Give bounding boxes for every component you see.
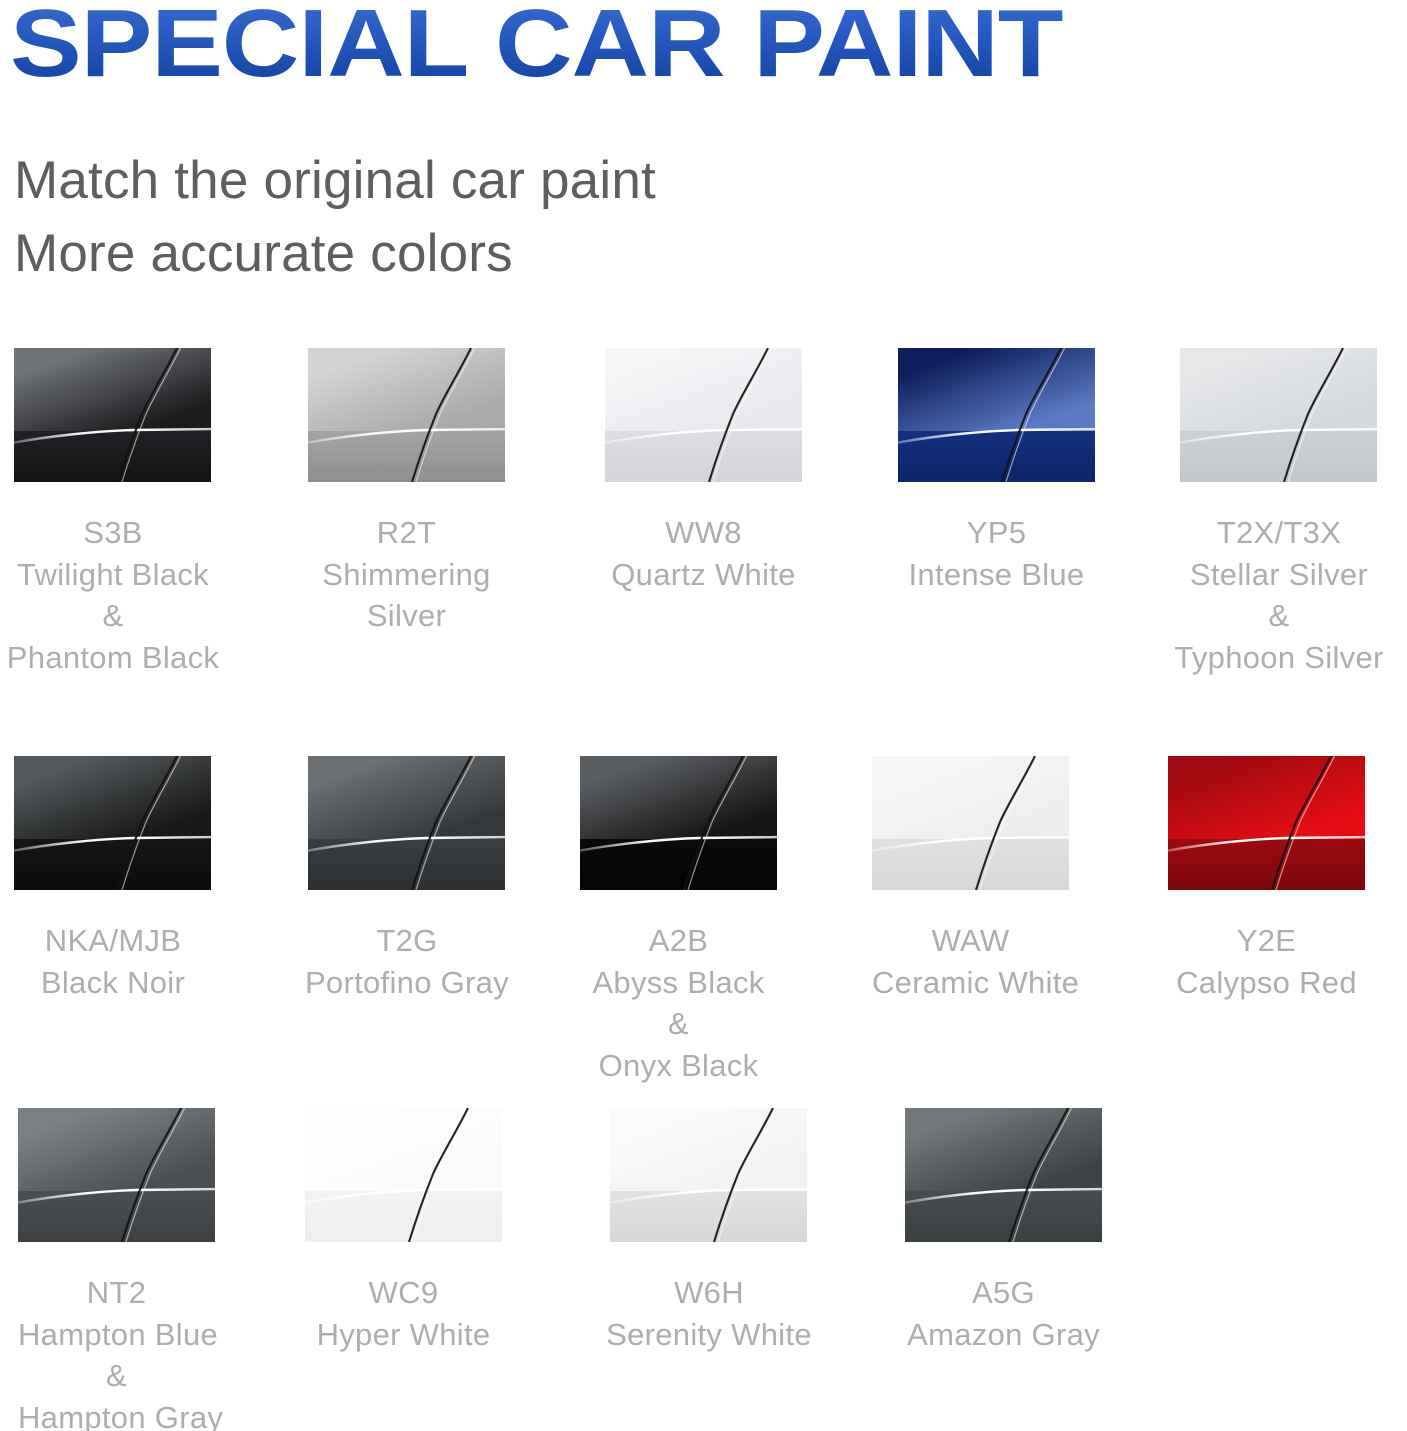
panel-lower-body bbox=[872, 839, 1069, 890]
paint-code: NKA/MJB bbox=[0, 920, 263, 962]
paint-swatch-cell[interactable]: S3BTwilight Black&Phantom Black bbox=[14, 348, 263, 678]
paint-caption: T2X/T3XStellar Silver&Typhoon Silver bbox=[1129, 512, 1407, 678]
panel-lower-body bbox=[14, 839, 211, 890]
paint-swatch-cell[interactable]: WC9Hyper White bbox=[305, 1108, 502, 1355]
panel-upper-body bbox=[1180, 348, 1377, 439]
paint-swatch-cell[interactable]: Y2ECalypso Red bbox=[1168, 756, 1365, 1003]
panel-lower-body bbox=[308, 431, 505, 482]
panel-upper-body bbox=[308, 348, 505, 439]
paint-name-alt: Typhoon Silver bbox=[1129, 637, 1407, 679]
panel-upper-body bbox=[898, 348, 1095, 439]
paint-name: Black Noir bbox=[0, 962, 263, 1004]
car-panel-image[interactable] bbox=[308, 348, 505, 482]
paint-code: WC9 bbox=[305, 1272, 502, 1314]
panel-lower-body bbox=[308, 839, 505, 890]
car-panel-image[interactable] bbox=[1168, 756, 1365, 890]
paint-caption: WC9Hyper White bbox=[305, 1272, 502, 1355]
paint-name-separator: & bbox=[0, 595, 263, 637]
paint-name-separator: & bbox=[18, 1355, 215, 1397]
paint-caption: S3BTwilight Black&Phantom Black bbox=[0, 512, 263, 678]
paint-name: Quartz White bbox=[605, 554, 802, 596]
paint-code: T2X/T3X bbox=[1129, 512, 1407, 554]
panel-lower-body bbox=[605, 431, 802, 482]
car-panel-image[interactable] bbox=[872, 756, 1069, 890]
car-panel-image[interactable] bbox=[605, 348, 802, 482]
panel-lower-body bbox=[1168, 839, 1365, 890]
car-panel-image[interactable] bbox=[898, 348, 1095, 482]
panel-lower-body bbox=[14, 431, 211, 482]
panel-upper-body bbox=[605, 348, 802, 439]
paint-caption: T2GPortofino Gray bbox=[257, 920, 557, 1003]
paint-caption: Y2ECalypso Red bbox=[1168, 920, 1365, 1003]
panel-upper-body bbox=[1168, 756, 1365, 847]
car-panel-image[interactable] bbox=[14, 756, 211, 890]
paint-name-separator: & bbox=[1129, 595, 1407, 637]
paint-name: Ceramic White bbox=[872, 962, 1069, 1004]
paint-name-alt: Hampton Gray bbox=[18, 1397, 215, 1431]
paint-swatch-cell[interactable]: R2TShimmeringSilver bbox=[308, 348, 505, 637]
panel-lower-body bbox=[18, 1191, 215, 1242]
paint-name: Abyss Black bbox=[580, 962, 777, 1004]
paint-name: Intense Blue bbox=[898, 554, 1095, 596]
paint-code: T2G bbox=[257, 920, 557, 962]
paint-swatch-cell[interactable]: W6HSerenity White bbox=[610, 1108, 859, 1355]
paint-swatch-cell[interactable]: YP5Intense Blue bbox=[898, 348, 1095, 595]
paint-code: A5G bbox=[905, 1272, 1102, 1314]
panel-upper-body bbox=[872, 756, 1069, 847]
paint-code: W6H bbox=[559, 1272, 859, 1314]
paint-caption: NT2Hampton Blue&Hampton Gray bbox=[18, 1272, 215, 1431]
paint-swatch-cell[interactable]: WAWCeramic White bbox=[872, 756, 1069, 1003]
car-panel-image[interactable] bbox=[580, 756, 777, 890]
paint-code: R2T bbox=[308, 512, 505, 554]
paint-code: YP5 bbox=[898, 512, 1095, 554]
panel-upper-body bbox=[580, 756, 777, 847]
paint-swatch-grid: S3BTwilight Black&Phantom BlackR2TShimme… bbox=[0, 0, 1407, 1431]
paint-swatch-cell[interactable]: NT2Hampton Blue&Hampton Gray bbox=[18, 1108, 215, 1431]
paint-code: S3B bbox=[0, 512, 263, 554]
paint-caption: R2TShimmeringSilver bbox=[308, 512, 505, 637]
paint-code: Y2E bbox=[1168, 920, 1365, 962]
paint-name-alt: Phantom Black bbox=[0, 637, 263, 679]
car-panel-image[interactable] bbox=[305, 1108, 502, 1242]
panel-upper-body bbox=[14, 756, 211, 847]
panel-lower-body bbox=[898, 431, 1095, 482]
panel-lower-body bbox=[305, 1191, 502, 1242]
paint-caption: W6HSerenity White bbox=[559, 1272, 859, 1355]
paint-caption: WW8Quartz White bbox=[605, 512, 802, 595]
panel-upper-body bbox=[610, 1108, 807, 1199]
paint-name: Calypso Red bbox=[1168, 962, 1365, 1004]
paint-code: NT2 bbox=[18, 1272, 215, 1314]
special-car-paint-page: SPECIAL CAR PAINT Match the original car… bbox=[0, 0, 1407, 1431]
panel-upper-body bbox=[14, 348, 211, 439]
paint-name: Shimmering bbox=[308, 554, 505, 596]
paint-name-separator: & bbox=[580, 1003, 777, 1045]
paint-caption: A5GAmazon Gray bbox=[905, 1272, 1102, 1355]
car-panel-image[interactable] bbox=[308, 756, 505, 890]
paint-name-alt: Silver bbox=[308, 595, 505, 637]
paint-name: Stellar Silver bbox=[1129, 554, 1407, 596]
panel-lower-body bbox=[1180, 431, 1377, 482]
paint-name: Amazon Gray bbox=[905, 1314, 1102, 1356]
paint-code: A2B bbox=[580, 920, 777, 962]
paint-swatch-cell[interactable]: T2GPortofino Gray bbox=[308, 756, 557, 1003]
car-panel-image[interactable] bbox=[1180, 348, 1377, 482]
paint-caption: YP5Intense Blue bbox=[898, 512, 1095, 595]
paint-swatch-cell[interactable]: T2X/T3XStellar Silver&Typhoon Silver bbox=[1180, 348, 1407, 678]
paint-swatch-cell[interactable]: NKA/MJBBlack Noir bbox=[14, 756, 263, 1003]
car-panel-image[interactable] bbox=[14, 348, 211, 482]
panel-lower-body bbox=[580, 839, 777, 890]
paint-swatch-cell[interactable]: A5GAmazon Gray bbox=[905, 1108, 1102, 1355]
panel-lower-body bbox=[610, 1191, 807, 1242]
paint-swatch-cell[interactable]: A2BAbyss Black&Onyx Black bbox=[580, 756, 777, 1086]
car-panel-image[interactable] bbox=[905, 1108, 1102, 1242]
car-panel-image[interactable] bbox=[18, 1108, 215, 1242]
paint-name: Hampton Blue bbox=[18, 1314, 215, 1356]
paint-name-alt: Onyx Black bbox=[580, 1045, 777, 1087]
paint-caption: WAWCeramic White bbox=[872, 920, 1069, 1003]
paint-name: Hyper White bbox=[305, 1314, 502, 1356]
paint-code: WW8 bbox=[605, 512, 802, 554]
panel-upper-body bbox=[18, 1108, 215, 1199]
paint-name: Portofino Gray bbox=[257, 962, 557, 1004]
car-panel-image[interactable] bbox=[610, 1108, 807, 1242]
panel-lower-body bbox=[905, 1191, 1102, 1242]
paint-code: WAW bbox=[872, 920, 1069, 962]
panel-upper-body bbox=[905, 1108, 1102, 1199]
paint-swatch-cell[interactable]: WW8Quartz White bbox=[605, 348, 802, 595]
panel-upper-body bbox=[308, 756, 505, 847]
panel-upper-body bbox=[305, 1108, 502, 1199]
paint-caption: NKA/MJBBlack Noir bbox=[0, 920, 263, 1003]
paint-name: Twilight Black bbox=[0, 554, 263, 596]
paint-name: Serenity White bbox=[559, 1314, 859, 1356]
paint-caption: A2BAbyss Black&Onyx Black bbox=[580, 920, 777, 1086]
